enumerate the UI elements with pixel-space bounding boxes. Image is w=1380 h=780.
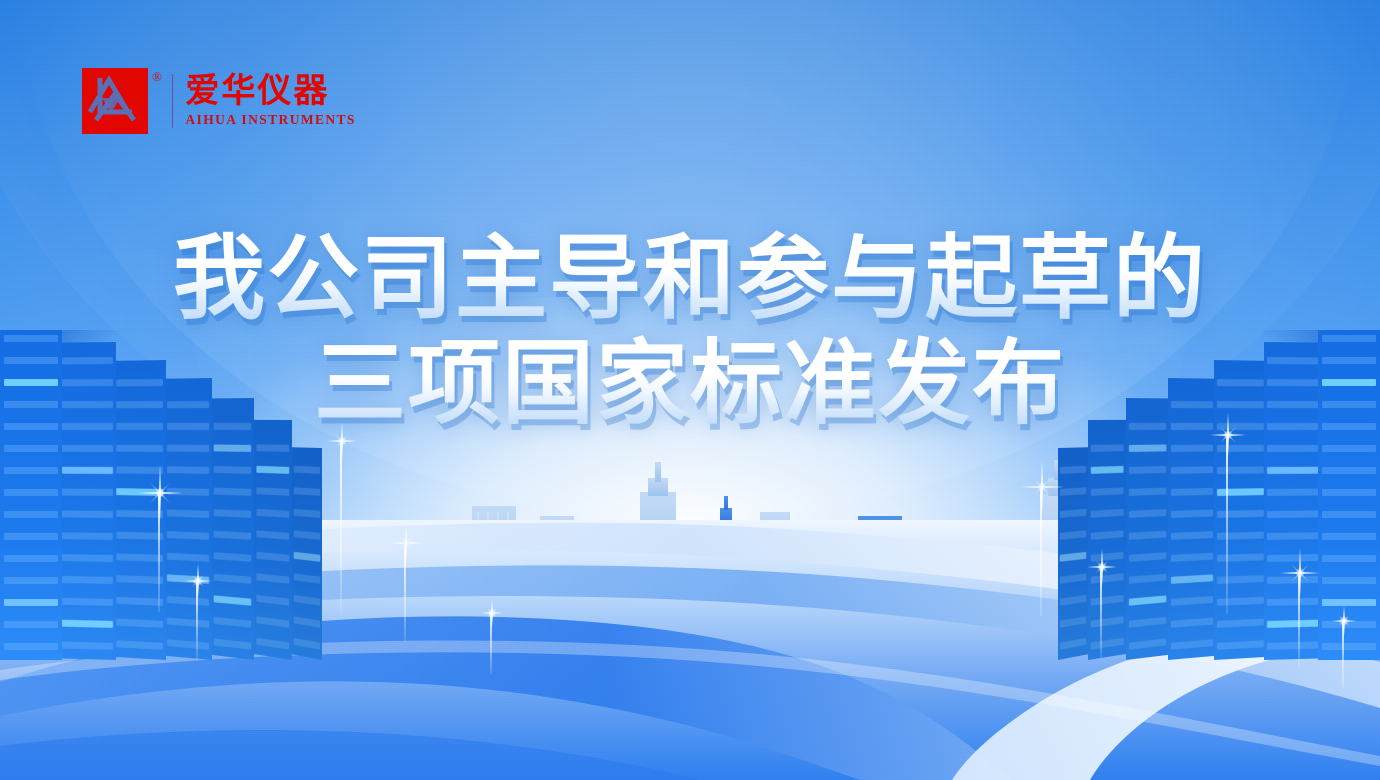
building-window-row <box>4 467 59 474</box>
lamp-sparkle-core <box>487 608 497 618</box>
building-window-row <box>4 445 59 452</box>
building-window-row <box>1322 401 1377 408</box>
building-window-row <box>116 510 162 518</box>
building-window-row <box>1217 488 1263 496</box>
building-window-row <box>62 357 113 364</box>
building-slab <box>164 378 212 660</box>
lamp-sparkle-icon <box>1041 486 1043 488</box>
building-window-row <box>294 466 320 474</box>
building-window-row <box>167 596 209 606</box>
building-window-row <box>1171 401 1213 408</box>
building-window-row <box>256 466 290 474</box>
building-window-row <box>1060 573 1086 583</box>
building-window-row <box>294 616 320 627</box>
building-window-row <box>1217 640 1263 650</box>
building-window-row <box>62 532 113 540</box>
lamp-sparkle-core <box>1223 430 1233 440</box>
building-window-row <box>1267 554 1318 562</box>
aihua-logo-mark <box>82 68 148 134</box>
building-window-row <box>1060 552 1086 562</box>
lamp-sparkle-core <box>1295 568 1305 578</box>
building-window-row <box>4 533 59 540</box>
building-window-row <box>1217 553 1263 561</box>
building-slab <box>1318 330 1380 660</box>
building-window-row <box>294 509 320 518</box>
building-window-row <box>1090 487 1124 496</box>
logo-text-block: 爱华仪器 AIHUA INSTRUMENTS <box>185 74 355 129</box>
building-window-row <box>1217 401 1263 408</box>
building-window-row <box>1217 597 1263 606</box>
lamp-sparkle-icon <box>405 542 407 544</box>
lamp-sparkle-icon <box>1227 434 1229 436</box>
building-window-row <box>62 620 113 628</box>
building-window-row <box>1060 509 1086 518</box>
lamp-sparkle-icon <box>1101 566 1103 568</box>
brand-logo[interactable]: ® 爱华仪器 AIHUA INSTRUMENTS <box>82 68 356 134</box>
building-window-row <box>294 487 320 496</box>
building-window-row <box>116 401 162 408</box>
building-window-row <box>256 552 290 562</box>
building-window-row <box>1267 379 1318 386</box>
building-window-row <box>1171 531 1213 540</box>
building-window-row <box>1171 445 1213 452</box>
building-window-row <box>1171 488 1213 496</box>
poster-canvas: ® 爱华仪器 AIHUA INSTRUMENTS 我公司主导和参与起草的 三项国… <box>0 0 1380 780</box>
building-window-row <box>213 444 251 451</box>
building-window-row <box>1090 509 1124 518</box>
building-window-row <box>1129 444 1167 451</box>
building-window-row <box>1129 638 1167 649</box>
building-window-row <box>62 576 113 584</box>
building-window-row <box>1171 553 1213 562</box>
building-window-row <box>1060 595 1086 606</box>
building-window-row <box>256 595 290 606</box>
building-window-row <box>4 379 59 386</box>
lamp-sparkle-icon <box>197 580 199 582</box>
building-window-row <box>256 487 290 496</box>
building-window-row <box>1090 466 1124 474</box>
building-window-row <box>1322 379 1377 386</box>
building-window-row <box>167 466 209 474</box>
building-window-row <box>294 595 320 606</box>
lamp-sparkle-core <box>337 436 347 446</box>
building-window-row <box>213 531 251 540</box>
building-window-row <box>1322 357 1377 364</box>
building-window-row <box>1322 445 1377 452</box>
building-window-row <box>62 489 113 496</box>
building-window-row <box>116 423 162 430</box>
building-window-row <box>167 639 209 649</box>
building-window-row <box>62 379 113 386</box>
building-window-row <box>1217 445 1263 452</box>
building-window-row <box>294 530 320 539</box>
building-window-row <box>116 445 162 452</box>
building-window-row <box>1129 488 1167 496</box>
building-window-row <box>1129 595 1167 605</box>
building-window-row <box>4 423 59 430</box>
building-window-row <box>4 555 59 562</box>
building-window-row <box>1129 423 1167 430</box>
building-window-row <box>167 618 209 628</box>
building-window-row <box>1090 595 1124 606</box>
building-window-row <box>1267 598 1318 606</box>
building-window-row <box>1322 489 1377 496</box>
headline-line-1: 我公司主导和参与起草的 <box>0 228 1380 329</box>
building-window-row <box>116 532 162 540</box>
building-window-row <box>1322 577 1377 584</box>
lamp-sparkle-core <box>155 488 165 498</box>
lamp-sparkle-icon <box>1299 572 1301 574</box>
building-window-row <box>1322 335 1377 342</box>
building-window-row <box>213 488 251 496</box>
building-window-row <box>62 401 113 408</box>
building-window-row <box>1090 616 1124 627</box>
building-window-row <box>1090 573 1124 583</box>
building-window-row <box>62 598 113 606</box>
building-window-row <box>256 616 290 627</box>
building-window-row <box>1322 599 1377 606</box>
building-window-row <box>62 467 113 474</box>
building-window-row <box>1217 575 1263 584</box>
building-window-row <box>1171 510 1213 518</box>
building-window-row <box>1267 510 1318 518</box>
building-window-row <box>62 510 113 518</box>
building-window-row <box>213 574 251 584</box>
street-lamp-pole <box>1226 434 1228 614</box>
building-window-row <box>1090 444 1124 452</box>
building-window-row <box>1267 489 1318 496</box>
building-window-row <box>4 621 59 628</box>
building-window-row <box>213 466 251 474</box>
building-slab <box>0 330 62 660</box>
building-window-row <box>213 509 251 518</box>
building-window-row <box>1322 533 1377 540</box>
building-slab <box>1126 398 1169 660</box>
building-window-row <box>1267 423 1318 430</box>
building-slab <box>254 420 292 660</box>
building-window-row <box>213 638 251 649</box>
building-window-row <box>213 552 251 562</box>
building-window-row <box>1267 401 1318 408</box>
building-window-row <box>4 401 59 408</box>
building-window-row <box>256 530 290 539</box>
lamp-sparkle-core <box>1037 482 1047 492</box>
building-window-row <box>1171 618 1213 628</box>
building-window-row <box>116 619 162 628</box>
building-window-row <box>167 401 209 408</box>
building-window-row <box>1217 379 1263 386</box>
building-window-row <box>1217 619 1263 628</box>
building-window-row <box>1129 617 1167 628</box>
building-window-row <box>4 335 59 342</box>
building-window-row <box>1322 555 1377 562</box>
building-window-row <box>62 642 113 650</box>
building-window-row <box>62 445 113 452</box>
building-window-row <box>4 577 59 584</box>
building-window-row <box>256 444 290 452</box>
building-window-row <box>1217 466 1263 473</box>
building-window-row <box>1267 642 1318 650</box>
building-window-row <box>294 573 320 583</box>
building-window-row <box>116 640 162 650</box>
building-window-row <box>62 423 113 430</box>
building-window-row <box>256 573 290 583</box>
building-window-row <box>4 599 59 606</box>
building-window-row <box>1217 532 1263 540</box>
building-window-row <box>1171 574 1213 583</box>
building-window-row <box>1267 357 1318 364</box>
building-window-row <box>1060 616 1086 627</box>
lamp-sparkle-core <box>1339 616 1349 626</box>
building-window-row <box>1060 466 1086 474</box>
building-window-row <box>1129 552 1167 562</box>
building-window-row <box>116 597 162 606</box>
building-window-row <box>1217 510 1263 518</box>
building-window-row <box>62 554 113 562</box>
building-slab <box>292 447 322 660</box>
building-window-row <box>1129 574 1167 584</box>
building-window-row <box>1171 639 1213 649</box>
building-window-row <box>1171 596 1213 606</box>
building-window-row <box>294 552 320 562</box>
lamp-sparkle-core <box>193 576 203 586</box>
building-window-row <box>1217 423 1263 430</box>
building-window-row <box>1267 467 1318 474</box>
building-window-row <box>1171 423 1213 430</box>
lamp-sparkle-core <box>1097 562 1107 572</box>
building-window-row <box>294 638 320 650</box>
building-slab <box>1264 342 1321 660</box>
building-window-row <box>4 357 59 364</box>
street-lamp-pole <box>340 440 342 615</box>
building-window-row <box>167 510 209 518</box>
building-window-row <box>4 489 59 496</box>
building-window-row <box>213 595 251 605</box>
building-window-row <box>1060 487 1086 496</box>
building-window-row <box>1322 511 1377 518</box>
building-window-row <box>1060 638 1086 650</box>
building-window-row <box>256 509 290 518</box>
building-window-row <box>4 643 59 650</box>
registered-trademark-icon: ® <box>152 70 162 83</box>
building-window-row <box>167 531 209 540</box>
building-window-row <box>1322 643 1377 650</box>
building-slab <box>1058 447 1088 660</box>
lamp-sparkle-icon <box>1343 620 1345 622</box>
building-window-row <box>116 466 162 473</box>
building-window-row <box>1129 466 1167 474</box>
building-window-row <box>116 379 162 386</box>
building-window-row <box>1129 531 1167 540</box>
building-slab <box>59 342 116 660</box>
building-slab <box>1214 360 1267 660</box>
logo-divider <box>172 74 174 128</box>
building-slab <box>1088 420 1126 660</box>
building-window-row <box>1322 467 1377 474</box>
building-window-row <box>1129 509 1167 518</box>
building-window-row <box>167 445 209 452</box>
building-window-row <box>213 617 251 628</box>
building-window-row <box>1090 638 1124 650</box>
building-slab <box>211 398 254 660</box>
building-window-row <box>1322 423 1377 430</box>
building-window-row <box>4 511 59 518</box>
brand-name-cn: 爱华仪器 <box>185 74 355 110</box>
building-window-row <box>116 575 162 584</box>
building-slab <box>1168 378 1216 660</box>
lamp-sparkle-core <box>401 538 411 548</box>
building-window-row <box>1060 530 1086 539</box>
building-window-row <box>213 423 251 430</box>
lamp-sparkle-icon <box>491 612 493 614</box>
building-window-row <box>1171 466 1213 474</box>
building-window-row <box>167 423 209 430</box>
building-window-row <box>167 553 209 562</box>
building-window-row <box>1267 445 1318 452</box>
building-window-row <box>1267 620 1318 628</box>
brand-name-en: AIHUA INSTRUMENTS <box>185 112 355 128</box>
lamp-sparkle-icon <box>159 492 161 494</box>
building-window-row <box>1267 532 1318 540</box>
building-window-row <box>116 553 162 561</box>
building-window-row <box>1090 530 1124 539</box>
building-window-row <box>256 638 290 650</box>
lamp-sparkle-icon <box>341 440 343 442</box>
